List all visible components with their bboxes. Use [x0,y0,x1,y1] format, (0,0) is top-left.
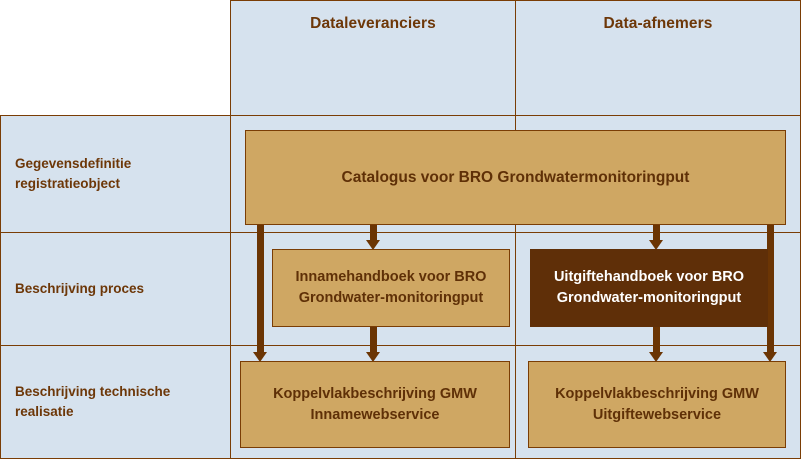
connector-catalogus-to-uitgiftehandboek [653,225,660,250]
box-innamehandboek[interactable]: Innamehandboek voor BRO Grondwater-monit… [272,249,510,327]
column-header-label: Data-afnemers [604,15,713,33]
box-catalogus-bro-grondwatermonitoringput[interactable]: Catalogus voor BRO Grondwatermonitoringp… [245,130,786,225]
box-koppelvlakbeschrijving-gmw-innamewebservice[interactable]: Koppelvlakbeschrijving GMW Innamewebserv… [240,361,510,448]
box-label: Catalogus voor BRO Grondwatermonitoringp… [334,167,698,189]
column-header-dataleveranciers: Dataleveranciers [230,0,516,116]
connector-uitgiftehandboek-to-koppelvlak-uitgifte [653,326,660,362]
box-koppelvlakbeschrijving-gmw-uitgiftewebservice[interactable]: Koppelvlakbeschrijving GMW Uitgiftewebse… [528,361,786,448]
box-label: Koppelvlakbeschrijving GMW Innamewebserv… [241,384,509,425]
box-uitgiftehandboek[interactable]: Uitgiftehandboek voor BRO Grondwater-mon… [530,249,768,327]
box-label: Uitgiftehandboek voor BRO Grondwater-mon… [531,267,767,308]
column-header-data-afnemers: Data-afnemers [515,0,801,116]
row-header-gegevensdefinitie: Gegevensdefinitie registratieobject [0,115,231,233]
row-header-beschrijving-technische-realisatie: Beschrijving technische realisatie [0,345,231,459]
architecture-diagram: Dataleveranciers Data-afnemers Gegevensd… [0,0,801,462]
box-label: Koppelvlakbeschrijving GMW Uitgiftewebse… [529,384,785,425]
connector-catalogus-to-innamehandboek [370,225,377,250]
connector-catalogus-to-koppelvlak-inname [257,225,264,362]
connector-catalogus-to-koppelvlak-uitgifte [767,225,774,362]
column-header-label: Dataleveranciers [310,15,436,33]
row-header-label: Beschrijving proces [1,279,144,299]
connector-innamehandboek-to-koppelvlak-inname [370,326,377,362]
box-label: Innamehandboek voor BRO Grondwater-monit… [273,267,509,308]
row-header-beschrijving-proces: Beschrijving proces [0,232,231,346]
row-header-label: Gegevensdefinitie registratieobject [1,154,215,193]
row-header-label: Beschrijving technische realisatie [1,382,215,421]
